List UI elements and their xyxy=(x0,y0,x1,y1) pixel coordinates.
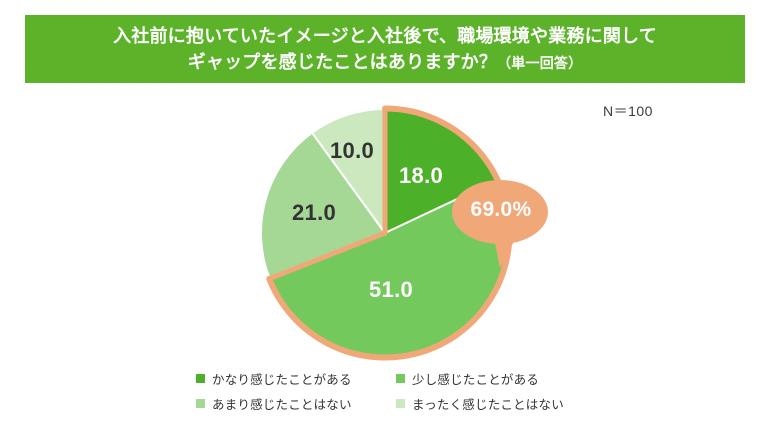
legend-label-3: まったく感じたことはない xyxy=(412,394,564,413)
chart-legend: かなり感じたことがある 少し感じたことがある あまり感じたことはない まったく感… xyxy=(196,366,596,416)
pie-value-label-0: 18.0 xyxy=(399,163,443,189)
legend-item-1[interactable]: 少し感じたことがある xyxy=(396,366,596,391)
legend-label-1: 少し感じたことがある xyxy=(412,369,539,388)
legend-swatch-icon-1 xyxy=(396,374,405,383)
callout-tail xyxy=(492,228,520,268)
survey-chart-page: 入社前に抱いていたイメージと入社後で、職場環境や業務に関して ギャップを感じたこ… xyxy=(0,0,770,433)
legend-label-2: あまり感じたことはない xyxy=(212,394,352,413)
chart-title-line-2: ギャップを感じたことはありますか？（単一回答） xyxy=(188,49,583,75)
chart-title-banner: 入社前に抱いていたイメージと入社後で、職場環境や業務に関して ギャップを感じたこ… xyxy=(25,15,745,83)
pie-value-label-1: 51.0 xyxy=(369,277,413,303)
legend-item-2[interactable]: あまり感じたことはない xyxy=(196,391,396,416)
sample-size-label: N＝100 xyxy=(603,101,653,121)
highlight-radial-edge-1 xyxy=(270,233,385,279)
legend-label-0: かなり感じたことがある xyxy=(212,369,352,388)
highlight-callout-bubble-group xyxy=(452,180,548,268)
legend-swatch-icon-0 xyxy=(196,374,205,383)
legend-item-0[interactable]: かなり感じたことがある xyxy=(196,366,396,391)
highlight-outer-arc xyxy=(269,109,509,358)
highlight-callout-value: 69.0% xyxy=(455,198,547,222)
chart-title-answer-type: （単一回答） xyxy=(497,55,582,71)
pie-slice-group xyxy=(261,109,509,357)
pie-value-label-3: 10.0 xyxy=(330,138,374,164)
legend-swatch-icon-2 xyxy=(196,399,205,408)
chart-title-line-1: 入社前に抱いていたイメージと入社後で、職場環境や業務に関して xyxy=(113,23,657,49)
pie-value-label-2: 21.0 xyxy=(292,200,336,226)
pie-highlight-arc-group xyxy=(269,109,509,358)
legend-swatch-icon-3 xyxy=(396,399,405,408)
legend-item-3[interactable]: まったく感じたことはない xyxy=(396,391,596,416)
chart-title-line-2-main: ギャップを感じたことはありますか？ xyxy=(188,52,497,72)
